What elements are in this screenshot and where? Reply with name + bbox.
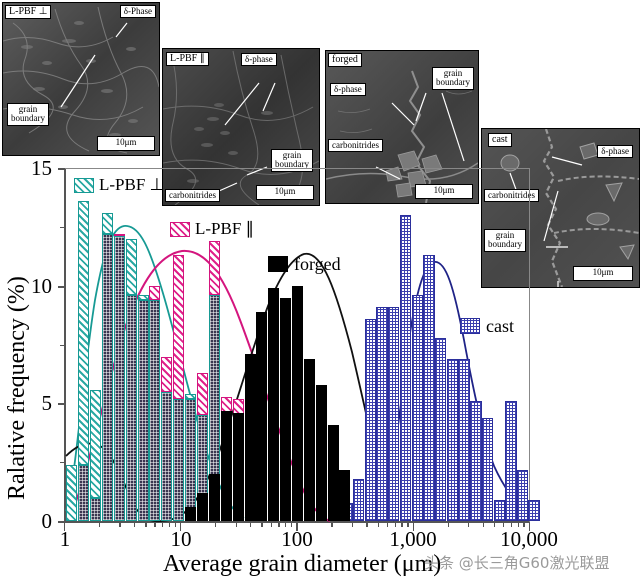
x-tick-minor [291,522,292,527]
x-tick-label-100: 100 [268,527,326,552]
bar-cast [458,359,469,522]
x-tick-label-10000: 10,000 [488,527,570,552]
x-tick-minor [407,522,408,527]
bar-cast [470,401,481,521]
x-tick-minor [331,522,332,527]
x-tick-minor [401,522,402,527]
bar-cast [412,295,423,521]
x-tick-minor [119,522,120,527]
bar-forged [316,385,327,522]
bar-lpbf-par [209,241,220,295]
bar-lpbf-par [161,357,172,392]
x-tick-minor [154,522,155,527]
bar-cast [353,479,364,521]
x-tick-minor [169,522,170,527]
x-tick-minor [236,522,237,527]
bar-forged [339,470,350,522]
bar-lpbf-perp [102,213,113,234]
bar-lpbf-par [173,255,184,399]
bar-cast [388,307,399,521]
x-tick-minor [175,522,176,527]
bar-lpbf-perp [78,201,89,465]
x-tick-minor [523,522,524,527]
x-tick-minor [448,522,449,527]
x-tick-minor [162,522,163,527]
x-tick-minor [285,522,286,527]
bar-lpbf-perp [66,465,77,522]
x-tick-minor [215,522,216,527]
bar-lpbf-overlap [185,399,196,522]
bar-forged [304,359,315,522]
x-tick-label-1: 1 [40,527,90,552]
x-tick-minor [483,522,484,527]
legend-swatch-lpbf-par [170,222,190,237]
bar-lpbf-par [197,373,208,415]
legend-swatch-forged [268,256,288,272]
bar-lpbf-overlap [78,465,89,522]
bar-forged [209,474,220,521]
bar-forged [268,288,279,521]
bar-cast [517,470,528,522]
x-axis-title: Average grain diameter (μm) [163,551,441,578]
bar-lpbf-overlap [161,392,172,522]
legend-label-lpbf-par: L-PBF ∥ [195,219,254,239]
x-tick-minor [518,522,519,527]
bar-lpbf-par [149,286,160,300]
bar-lpbf-perp [126,239,137,296]
bar-cast [365,319,376,522]
x-tick-minor [271,522,272,527]
legend-label-lpbf-perp: L-PBF ⊥ [99,175,164,195]
x-tick-minor [261,522,262,527]
x-tick-minor [503,522,504,527]
bar-lpbf-overlap [102,234,113,522]
bar-forged [185,507,196,521]
legend-swatch-lpbf-perp [74,178,94,193]
bar-cast [494,500,505,521]
bar-lpbf-perp [138,295,149,300]
bar-lpbf-overlap [149,300,160,522]
bar-forged [221,411,232,522]
bar-cast [528,500,539,521]
bar-cast [482,418,493,522]
x-tick-minor [145,522,146,527]
bar-lpbf-perp [185,394,196,399]
x-tick-minor [278,522,279,527]
bar-cast [435,338,446,522]
histogram-chart: 0 5 10 15 1 10 100 1,000 10,000 Average … [0,0,640,583]
x-tick-minor [250,522,251,527]
bar-lpbf-par [114,234,125,236]
x-tick-minor [511,522,512,527]
bar-forged [328,425,339,522]
x-tick-minor [378,522,379,527]
bar-lpbf-overlap [114,236,125,521]
bar-lpbf-overlap [126,295,137,521]
watermark: 头条 @长三角G60激光联盟 [424,552,609,573]
bar-forged [292,286,303,522]
legend-label-forged: forged [294,254,341,275]
bar-cast [447,359,458,522]
bar-lpbf-overlap [90,498,101,522]
bar-cast [505,401,516,521]
bar-cast [376,307,387,521]
x-tick-minor [352,522,353,527]
x-tick-label-1000: 1,000 [378,527,448,552]
bar-forged [233,413,244,521]
x-tick-minor [99,522,100,527]
x-tick-minor [387,522,388,527]
x-tick-label-10: 10 [154,527,208,552]
x-tick-minor [134,522,135,527]
legend-swatch-cast [460,318,480,334]
bar-lpbf-overlap [138,300,149,522]
x-tick-minor [494,522,495,527]
bar-lpbf-perp [90,390,101,498]
y-axis-title: Ralative frequency (%) [4,276,31,500]
bar-cast [400,215,411,521]
bar-lpbf-overlap [173,399,184,522]
bar-forged [256,312,267,522]
x-tick-minor [395,522,396,527]
bar-forged [280,298,291,522]
bar-forged [197,493,208,521]
legend-label-cast: cast [486,316,514,337]
bar-forged [245,354,256,521]
bar-cast [423,255,434,521]
x-tick-minor [468,522,469,527]
x-tick-minor [366,522,367,527]
